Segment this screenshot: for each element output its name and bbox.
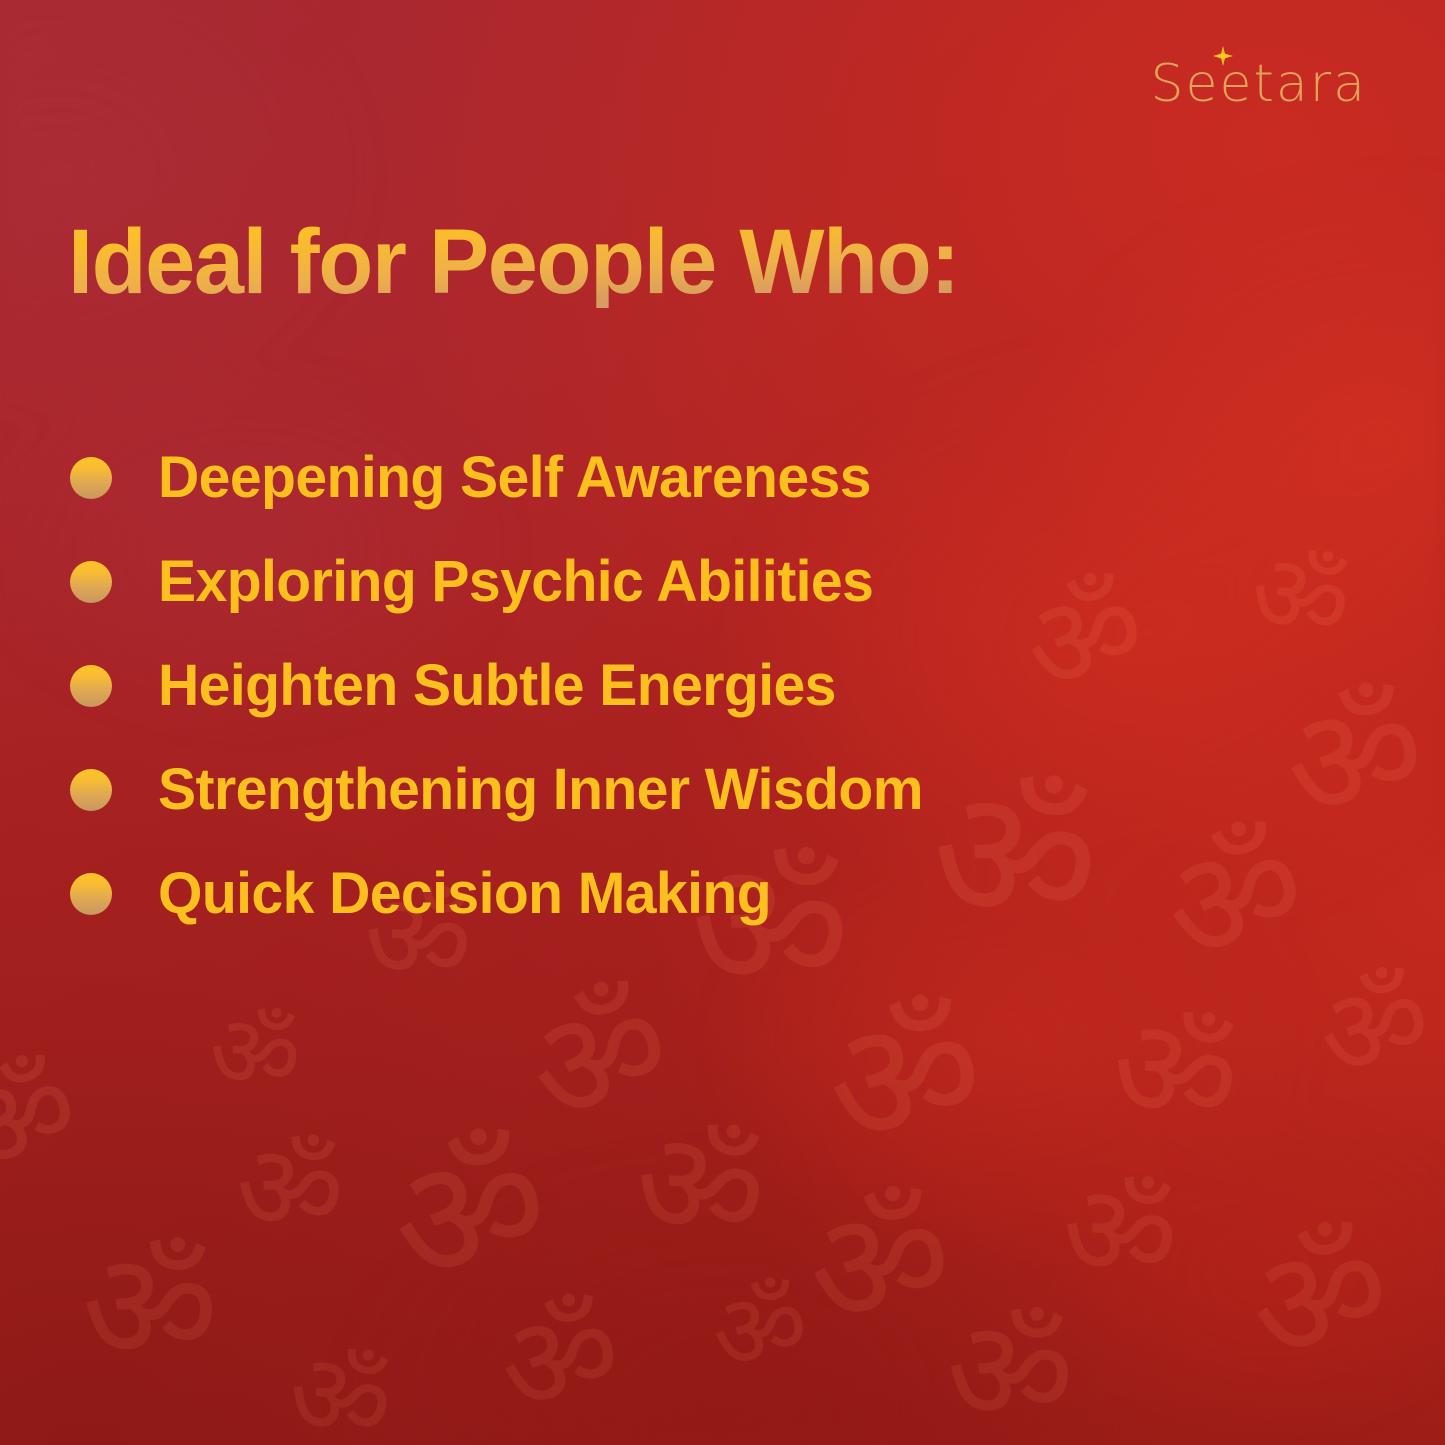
om-symbol: ॐ — [1277, 676, 1433, 844]
om-symbol: ॐ — [800, 1179, 959, 1350]
om-symbol: ॐ — [708, 1274, 812, 1386]
page-title: Ideal for People Who: — [68, 216, 959, 308]
om-symbol: ॐ — [820, 988, 990, 1171]
benefits-list: Deepening Self AwarenessExploring Psychi… — [70, 426, 1270, 946]
sparkle-icon — [1213, 46, 1233, 66]
om-symbol: ॐ — [276, 1333, 404, 1445]
brand-logo-text: Seetara — [1151, 58, 1368, 110]
circle-bullet-icon — [70, 457, 112, 499]
list-item-label: Strengthening Inner Wisdom — [158, 761, 923, 819]
om-symbol: ॐ — [1236, 1212, 1403, 1389]
om-symbol: ॐ — [938, 1298, 1082, 1445]
list-item: Deepening Self Awareness — [70, 426, 1270, 530]
list-item-label: Quick Decision Making — [158, 865, 771, 923]
om-symbol: ॐ — [0, 1045, 91, 1194]
circle-bullet-icon — [70, 561, 112, 603]
list-item: Quick Decision Making — [70, 842, 1270, 946]
list-item: Heighten Subtle Energies — [70, 634, 1270, 738]
list-item: Exploring Psychic Abilities — [70, 530, 1270, 634]
list-item-label: Heighten Subtle Energies — [158, 657, 836, 715]
om-symbol: ॐ — [491, 1287, 628, 1434]
circle-bullet-icon — [70, 665, 112, 707]
circle-bullet-icon — [70, 769, 112, 811]
om-symbol: ॐ — [74, 1228, 226, 1391]
poster-canvas: ॐॐॐॐॐॐॐॐॐॐॐॐॐॐॐॐॐॐॐॐॐॐॐॐ Seetara Ideal f… — [0, 0, 1445, 1445]
circle-bullet-icon — [70, 873, 112, 915]
list-item: Strengthening Inner Wisdom — [70, 738, 1270, 842]
om-symbol: ॐ — [1311, 961, 1440, 1098]
list-item-label: Deepening Self Awareness — [158, 449, 871, 507]
om-symbol: ॐ — [379, 1118, 561, 1312]
om-symbol: ॐ — [1052, 1162, 1189, 1308]
om-symbol: ॐ — [1097, 993, 1253, 1157]
brand-logo[interactable]: Seetara — [1151, 52, 1368, 110]
om-symbol: ॐ — [201, 998, 308, 1112]
om-symbol: ॐ — [228, 1124, 351, 1256]
list-item-label: Exploring Psychic Abilities — [158, 553, 873, 611]
